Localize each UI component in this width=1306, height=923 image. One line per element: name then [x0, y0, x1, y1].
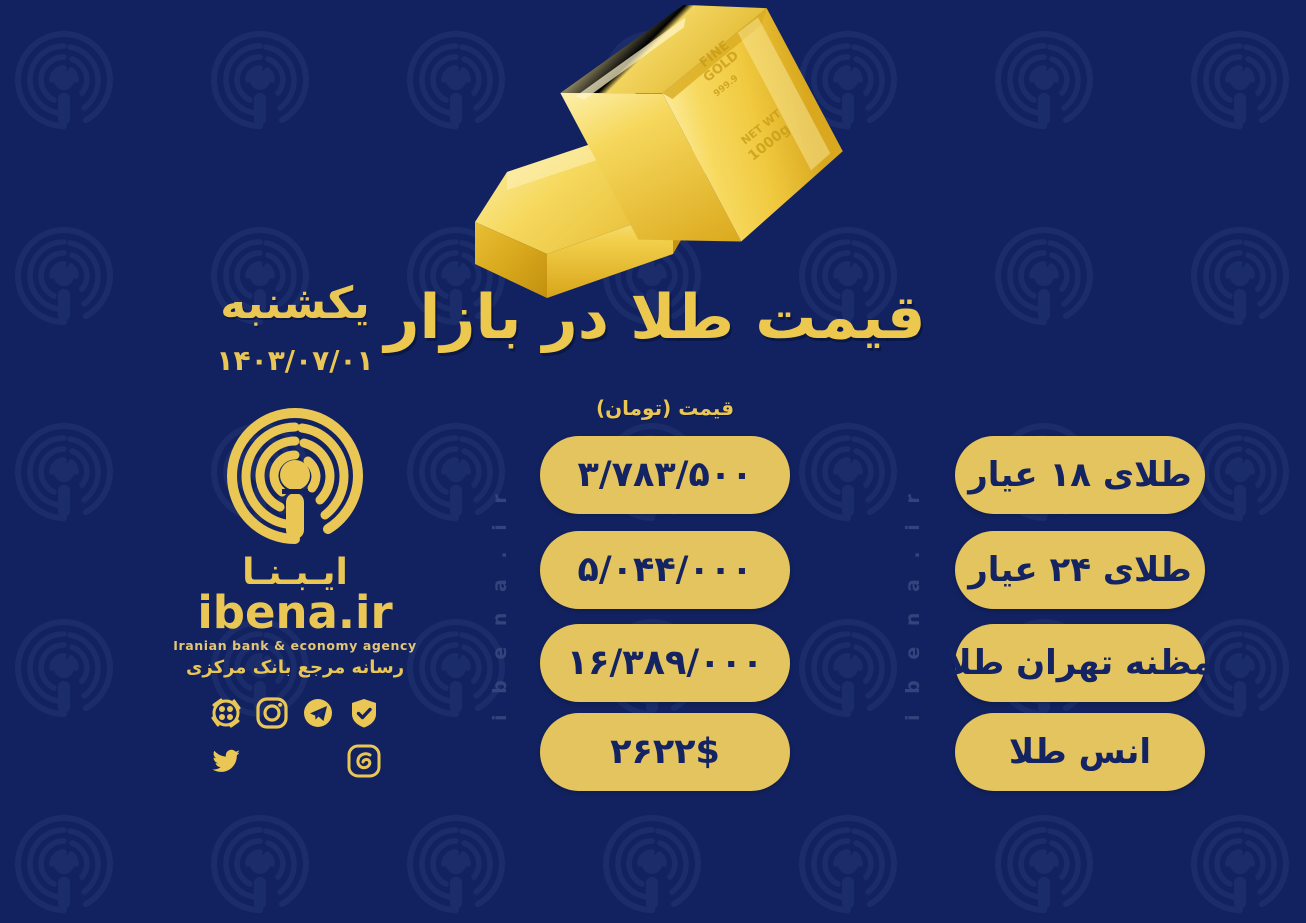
- brand-tagline-fa: رسانه مرجع بانک مرکزی: [186, 657, 404, 678]
- social-links: [207, 694, 383, 780]
- item-label: طلای ۲۴ عیار: [968, 553, 1192, 587]
- price-cell[interactable]: ۲۶۲۲$: [540, 713, 790, 791]
- bale-icon[interactable]: [345, 694, 383, 732]
- brand-panel: یکشنبه ۱۴۰۳/۰۷/۰۱ ایـ: [150, 282, 440, 780]
- page-title-text: قیمت طلا در بازار: [384, 282, 925, 353]
- weekday-label: یکشنبه: [220, 282, 370, 326]
- price-value: ۳/۷۸۳/۵۰۰: [577, 458, 752, 493]
- item-label-cell[interactable]: طلای ۲۴ عیار: [955, 531, 1205, 609]
- item-label-cell[interactable]: مظنه تهران طلا: [955, 624, 1205, 702]
- aparat-icon[interactable]: [207, 694, 245, 732]
- price-cell[interactable]: ۵/۰۴۴/۰۰۰: [540, 531, 790, 609]
- price-value: ۵/۰۴۴/۰۰۰: [577, 553, 752, 588]
- item-label: انس طلا: [1009, 735, 1151, 769]
- item-label-cell[interactable]: طلای ۱۸ عیار: [955, 436, 1205, 514]
- brand-tagline-en: Iranian bank & economy agency: [173, 638, 417, 653]
- instagram-icon[interactable]: [253, 694, 291, 732]
- price-value: ۲۶۲۲$: [610, 735, 720, 770]
- date-label: ۱۴۰۳/۰۷/۰۱: [216, 344, 373, 377]
- eitaa-icon[interactable]: [345, 742, 383, 780]
- twitter-icon[interactable]: [207, 742, 245, 780]
- page-title: قیمت طلا در بازار: [440, 272, 870, 362]
- gold-bars-illustration: FINE GOLD 999.9 NET WT 1000g: [455, 2, 925, 302]
- price-value: ۱۶/۳۸۹/۰۰۰: [567, 646, 763, 681]
- telegram-icon[interactable]: [299, 694, 337, 732]
- watermark-left: i b e n a . i r: [489, 501, 511, 721]
- ibena-radar-logo-icon: [224, 405, 366, 547]
- item-label-cell[interactable]: انس طلا: [955, 713, 1205, 791]
- price-cell[interactable]: ۱۶/۳۸۹/۰۰۰: [540, 624, 790, 702]
- item-label: طلای ۱۸ عیار: [968, 458, 1192, 492]
- item-label: مظنه تهران طلا: [946, 646, 1213, 680]
- price-column-header: قیمت (تومان): [565, 396, 765, 420]
- price-cell[interactable]: ۳/۷۸۳/۵۰۰: [540, 436, 790, 514]
- watermark-right: i b e n a . i r: [902, 501, 924, 721]
- brand-name-en: ibena.ir: [197, 589, 392, 636]
